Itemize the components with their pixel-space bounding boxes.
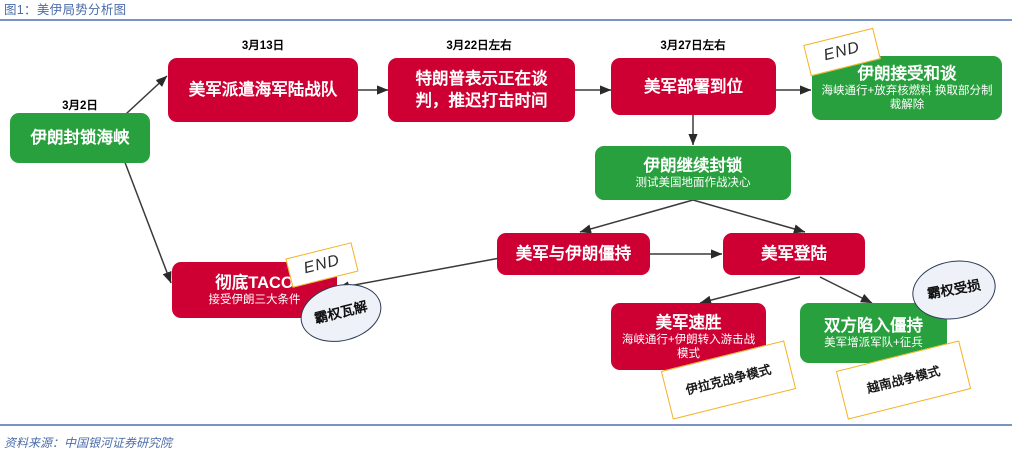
node-us-iran-stalemate[interactable]: 美军与伊朗僵持	[497, 233, 650, 275]
node-subtitle: 接受伊朗三大条件	[209, 293, 301, 307]
node-us-deployment-complete[interactable]: 美军部署到位	[611, 58, 776, 115]
source-note: 资料来源：中国银河证券研究院	[4, 434, 172, 451]
node-title: 美军部署到位	[644, 77, 743, 97]
date-label-marines: 3月13日	[215, 37, 311, 53]
node-title: 美军登陆	[761, 244, 827, 264]
node-title: 伊朗继续封锁	[644, 156, 743, 176]
node-iran-continues-blockade[interactable]: 伊朗继续封锁 测试美国地面作战决心	[595, 146, 791, 200]
node-us-landing[interactable]: 美军登陆	[723, 233, 865, 275]
node-title: 美军与伊朗僵持	[516, 244, 632, 264]
node-title: 美军派遣海军陆战队	[189, 80, 338, 100]
node-subtitle: 美军增派军队+征兵	[824, 336, 923, 350]
node-subtitle: 海峡通行+放弃核燃料 换取部分制裁解除	[818, 84, 996, 112]
date-label-blockade: 3月2日	[32, 97, 128, 113]
node-title: 美军速胜	[656, 313, 722, 333]
node-title: 双方陷入僵持	[824, 316, 923, 336]
node-title: 彻底TACO	[215, 273, 294, 293]
node-title: 特朗普表示正在谈判，推迟打击时间	[402, 68, 562, 112]
date-label-trump: 3月22日左右	[424, 37, 534, 53]
node-title: 伊朗接受和谈	[858, 64, 957, 84]
node-title: 伊朗封锁海峡	[31, 128, 130, 148]
node-trump-negotiation[interactable]: 特朗普表示正在谈判，推迟打击时间	[388, 58, 575, 122]
node-us-marines-dispatch[interactable]: 美军派遣海军陆战队	[168, 58, 358, 122]
node-subtitle: 测试美国地面作战决心	[636, 176, 751, 190]
node-iran-blockade[interactable]: 伊朗封锁海峡	[10, 113, 150, 163]
date-label-deployed: 3月27日左右	[638, 37, 748, 53]
footer-divider	[0, 424, 1012, 426]
